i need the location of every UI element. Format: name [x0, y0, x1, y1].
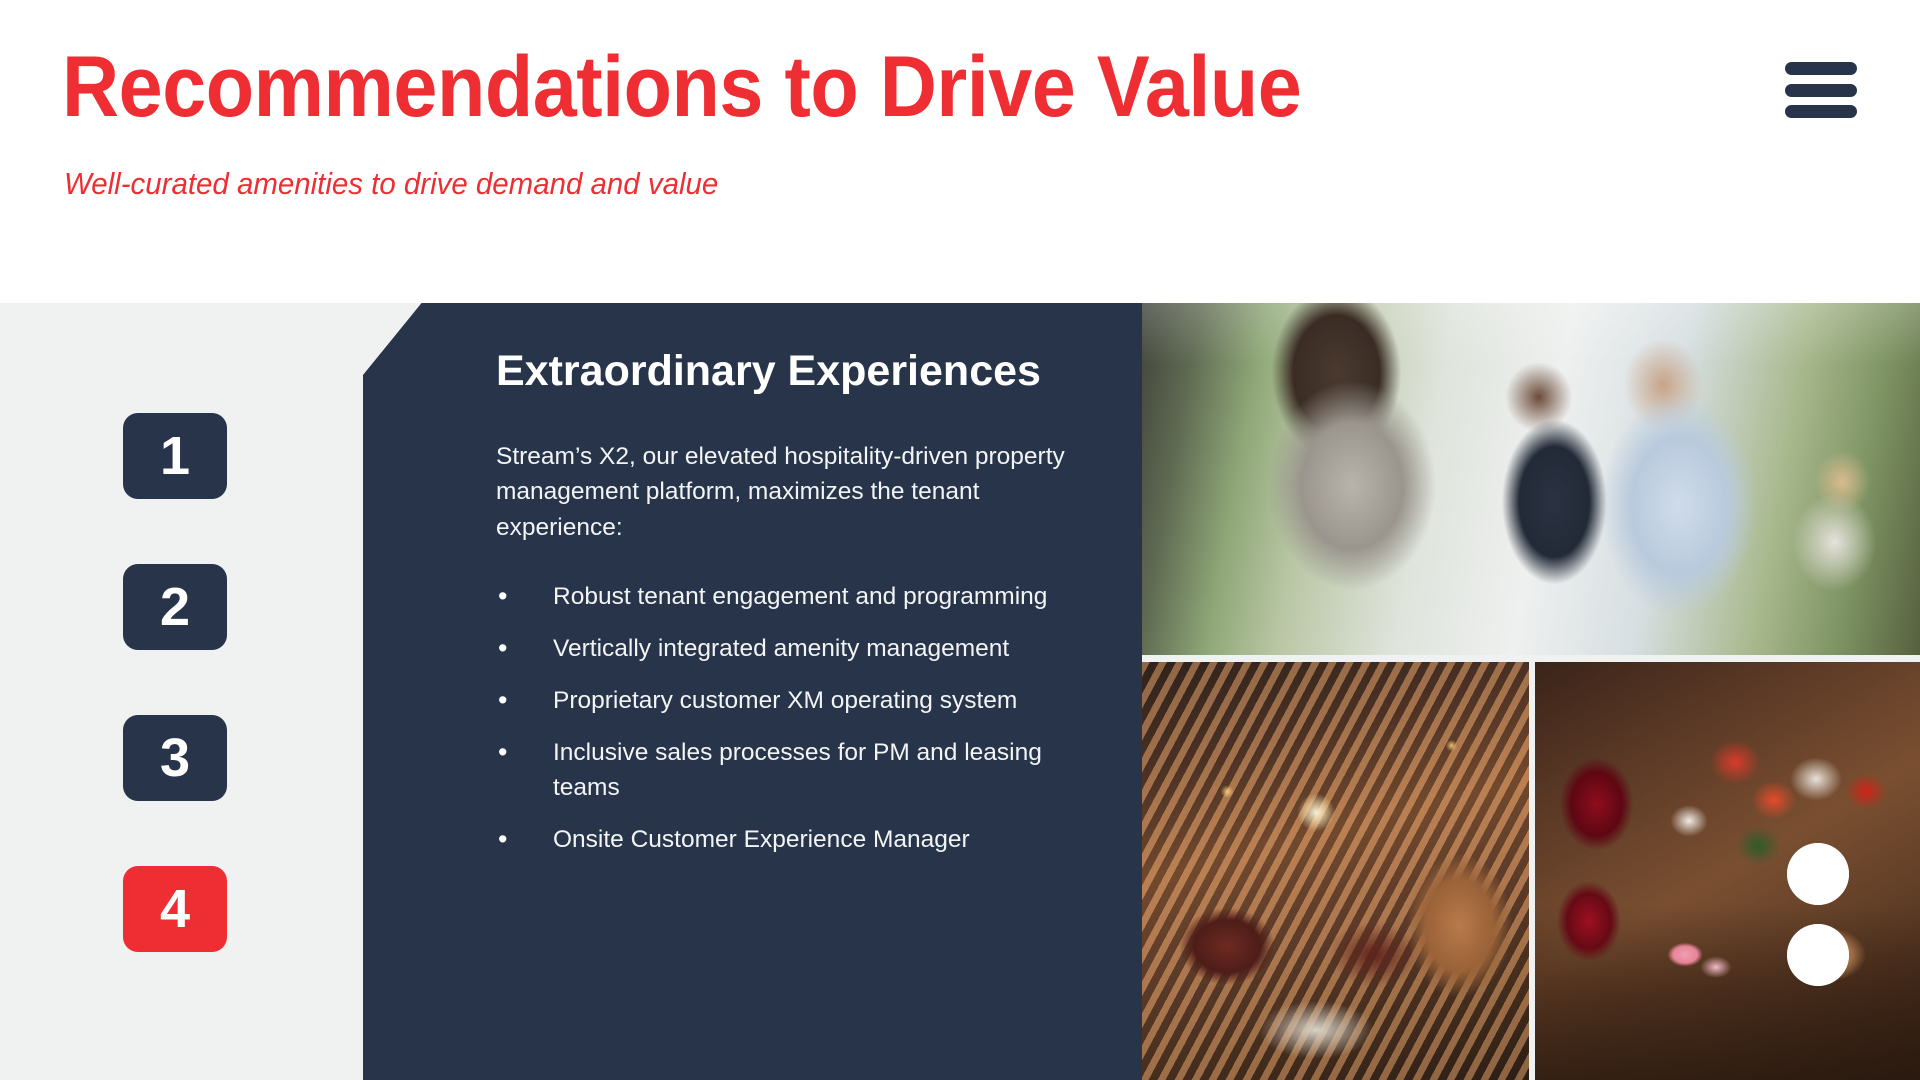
- page-title: Recommendations to Drive Value: [62, 42, 1301, 132]
- step-button-1[interactable]: 1: [123, 413, 227, 499]
- panel-bullet-list: Robust tenant engagement and programming…: [496, 579, 1096, 857]
- list-item: Vertically integrated amenity management: [496, 631, 1068, 666]
- list-item: Robust tenant engagement and programming: [496, 579, 1068, 614]
- step-button-2[interactable]: 2: [123, 564, 227, 650]
- slide-header: Recommendations to Drive Value Well-cura…: [0, 0, 1920, 303]
- hamburger-bar-top: [1785, 62, 1857, 75]
- arrow-down-icon[interactable]: [1787, 924, 1849, 986]
- list-item: Onsite Customer Experience Manager: [496, 822, 1068, 857]
- arrow-up-icon[interactable]: [1787, 843, 1849, 905]
- slide-canvas: Extraordinary Experiences Stream’s X2, o…: [0, 0, 1920, 1080]
- page-subtitle: Well-curated amenities to drive demand a…: [64, 166, 718, 202]
- list-item: Inclusive sales processes for PM and lea…: [496, 735, 1068, 805]
- flowers-macarons-display-photo: [1535, 662, 1920, 1080]
- step-navigation: 1 2 3 4: [123, 413, 227, 952]
- flowers-macarons-image: [1535, 662, 1920, 1080]
- lounge-coworking-seating-photo: [1142, 662, 1529, 1080]
- panel-lead-paragraph: Stream’s X2, our elevated hospitality-dr…: [496, 439, 1076, 544]
- lounge-coworking-image: [1142, 662, 1529, 1080]
- office-reception-handshake-photo: [1142, 252, 1920, 655]
- hamburger-bar-bottom: [1785, 105, 1857, 118]
- list-item: Proprietary customer XM operating system: [496, 683, 1068, 718]
- content-panel-inner: Extraordinary Experiences Stream’s X2, o…: [496, 347, 1096, 874]
- hamburger-bar-middle: [1785, 84, 1857, 97]
- step-button-4[interactable]: 4: [123, 866, 227, 952]
- office-reception-image: [1142, 252, 1920, 655]
- content-panel: Extraordinary Experiences Stream’s X2, o…: [363, 252, 1142, 1080]
- hamburger-menu-icon[interactable]: [1785, 62, 1857, 118]
- step-button-3[interactable]: 3: [123, 715, 227, 801]
- panel-title: Extraordinary Experiences: [496, 347, 1096, 396]
